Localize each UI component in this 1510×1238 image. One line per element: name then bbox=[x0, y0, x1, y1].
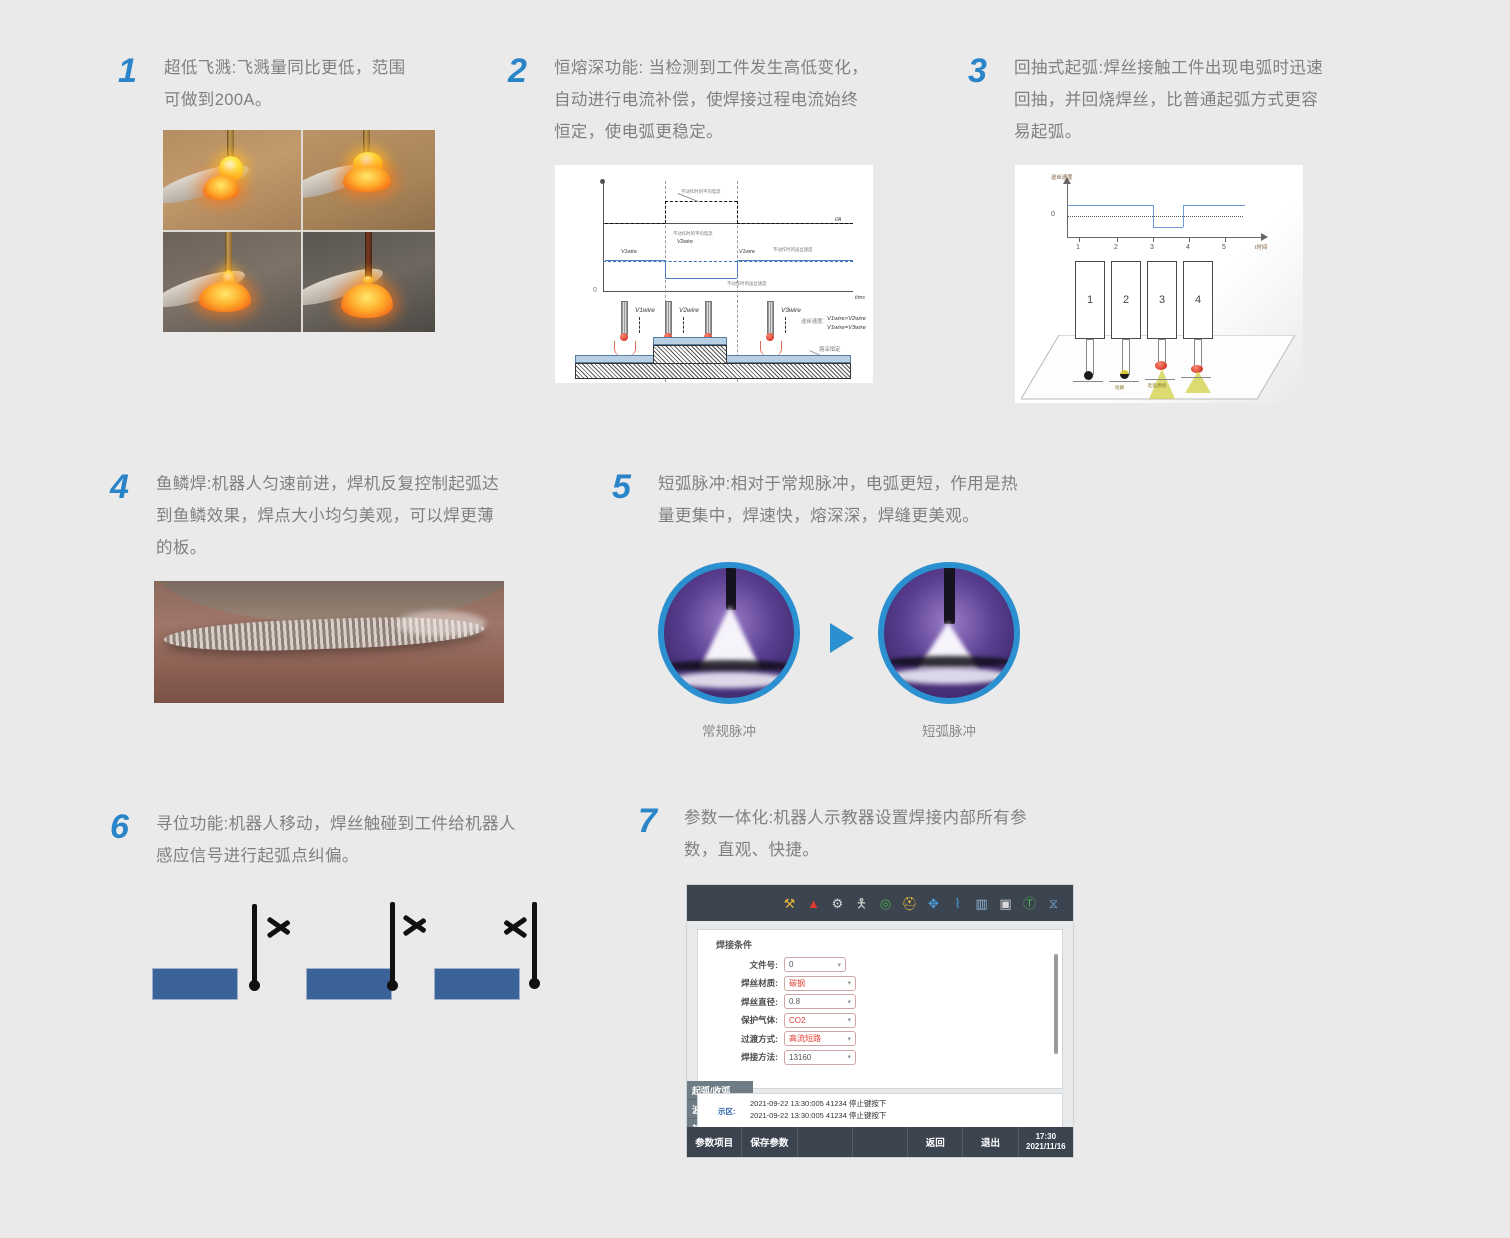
touch-wire-tip-3 bbox=[529, 978, 540, 989]
chevron-down-icon: ▾ bbox=[847, 998, 851, 1006]
button-parameter-items[interactable]: 参数项目 bbox=[687, 1127, 742, 1157]
chart3-tick-4: 4 bbox=[1186, 244, 1190, 251]
feature-2-line-3: 恒定，使电弧更稳定。 bbox=[554, 116, 868, 148]
feature-6: 6 寻位功能:机器人移动，焊丝触碰到工件给机器人 感应信号进行起弧点纠偏。 bbox=[110, 808, 580, 1024]
form-row-wire-diameter: 焊丝直径: 0.8 ▾ bbox=[698, 994, 1062, 1009]
select-wire-diameter[interactable]: 0.8 ▾ bbox=[784, 994, 856, 1009]
feature-3-line-3: 易起弧。 bbox=[1014, 116, 1323, 148]
chart2-series-label-2: V2wire bbox=[677, 239, 693, 245]
feature-2-line-1: 恒熔深功能: 当检测到工件发生高低变化， bbox=[554, 52, 868, 84]
chart3-tick-1: 1 bbox=[1076, 244, 1080, 251]
chart2-series-label-3: V1wire bbox=[739, 249, 755, 255]
chart3-tick-2: 2 bbox=[1114, 244, 1118, 251]
value-file-number: 0 bbox=[789, 960, 793, 969]
button-save-parameters[interactable]: 保存参数 bbox=[742, 1127, 797, 1157]
value-wire-diameter: 0.8 bbox=[789, 997, 800, 1006]
label-file-number: 文件号: bbox=[698, 959, 784, 971]
label-wire-material: 焊丝材质: bbox=[698, 977, 784, 989]
chevron-down-icon: ▾ bbox=[847, 1053, 851, 1061]
clock-date: 2021/11/16 bbox=[1026, 1142, 1066, 1153]
t-box-icon[interactable]: Ⓣ bbox=[1020, 894, 1039, 913]
feature-6-line-1: 寻位功能:机器人移动，焊丝触碰到工件给机器人 bbox=[156, 808, 516, 840]
touch-plate-3 bbox=[434, 968, 520, 1000]
robot-01-icon[interactable]: 🯅 bbox=[852, 894, 871, 913]
feature-3-line-2: 回抽，并回烧焊丝，比普通起弧方式更容 bbox=[1014, 84, 1323, 116]
feature-1-line-2: 可做到200A。 bbox=[164, 84, 406, 116]
feature-3-description: 回抽式起弧:焊丝接触工件出现电弧时迅速 回抽，并回烧焊丝，比普通起弧方式更容 易… bbox=[1014, 52, 1323, 149]
arc-circle-icon[interactable]: ◎ bbox=[876, 894, 895, 913]
chart2-annotation-1: 不动作时的平均电流 bbox=[681, 189, 721, 195]
form-row-shielding-gas: 保护气体: CO2 ▾ bbox=[698, 1013, 1062, 1028]
select-welding-method[interactable]: 13160 ▾ bbox=[784, 1050, 856, 1065]
chart2-note-line-1: V1wire>V2wire bbox=[827, 316, 866, 322]
chart3-zero-label: 0 bbox=[1051, 211, 1055, 218]
chart3-tick-3: 3 bbox=[1150, 244, 1154, 251]
feature-4-line-3: 的板。 bbox=[156, 532, 499, 564]
pendant-bottom-bar: 参数项目 保存参数 返回 退出 17:30 2021/11/16 bbox=[687, 1127, 1073, 1157]
stage-caption-3: 起弧燃烧 bbox=[1148, 383, 1166, 389]
feature-5-line-1: 短弧脉冲:相对于常规脉冲，电弧更短，作用是热 bbox=[658, 468, 1018, 500]
chart2-note-title: 送丝速度： bbox=[801, 317, 828, 325]
chart2-annotation-2: 不动作时的平均电流 bbox=[673, 231, 713, 237]
feature-1-number: 1 bbox=[118, 52, 148, 88]
label-wire-diameter: 焊丝直径: bbox=[698, 996, 784, 1008]
label-welding-method: 焊接方法: bbox=[698, 1051, 784, 1063]
log-row-1: 2021-09-22 13:30:005 41234 停止键按下 bbox=[750, 1098, 1062, 1110]
feature-3-number: 3 bbox=[968, 52, 998, 88]
feature-7-description: 参数一体化:机器人示教器设置焊接内部所有参 数，直观、快捷。 bbox=[684, 802, 1027, 866]
retract-arrow-icon bbox=[500, 912, 528, 940]
move-axes-icon[interactable]: ✥ bbox=[924, 894, 943, 913]
button-empty-2[interactable] bbox=[853, 1127, 908, 1157]
chevron-down-icon: ▾ bbox=[847, 1035, 851, 1043]
feature-4-line-2: 到鱼鳞效果，焊点大小均匀美观，可以焊更薄 bbox=[156, 500, 499, 532]
feature-2-line-2: 自动进行电流补偿，使焊接过程电流始终 bbox=[554, 84, 868, 116]
feature-6-number: 6 bbox=[110, 808, 140, 844]
clock-time: 17:30 bbox=[1026, 1132, 1066, 1143]
panel-title: 焊接条件 bbox=[698, 930, 1062, 951]
button-back[interactable]: 返回 bbox=[908, 1127, 963, 1157]
comparison-arrow-icon bbox=[830, 623, 854, 653]
chevron-down-icon: ▾ bbox=[837, 961, 841, 969]
chart2-torch-label-3: V3wire bbox=[781, 307, 801, 314]
form-row-wire-material: 焊丝材质: 碳钢 ▾ bbox=[698, 976, 1062, 991]
step-box-1: 1 bbox=[1075, 261, 1105, 339]
gear-01-icon[interactable]: ⚙ bbox=[828, 894, 847, 913]
feature-1-line-1: 超低飞溅:飞溅量同比更低，范围 bbox=[164, 52, 406, 84]
approach-arrow-2-icon bbox=[404, 910, 432, 938]
touch-wire-3 bbox=[532, 902, 537, 984]
label-shielding-gas: 保护气体: bbox=[698, 1014, 784, 1026]
wrench-tools-icon[interactable]: ⚒ bbox=[780, 894, 799, 913]
robot-arm-icon[interactable]: ⌇ bbox=[948, 894, 967, 913]
chart3-y-axis-label: 送丝速度 bbox=[1051, 173, 1073, 181]
feature-3-line-1: 回抽式起弧:焊丝接触工件出现电弧时迅速 bbox=[1014, 52, 1323, 84]
feature-1-description: 超低飞溅:飞溅量同比更低，范围 可做到200A。 bbox=[164, 52, 406, 116]
label-transfer-mode: 过渡方式: bbox=[698, 1033, 784, 1045]
fish-scale-weld-photo bbox=[154, 581, 504, 703]
step-box-2: 2 bbox=[1111, 261, 1141, 339]
feature-5-number: 5 bbox=[612, 468, 642, 504]
feature-4-line-1: 鱼鳞焊:机器人匀速前进，焊机反复控制起弧达 bbox=[156, 468, 499, 500]
pendant-toolbar: ⚒ ▲ ⚙ 🯅 ◎ ⛑ ✥ ⌇ ▥ ▣ Ⓣ ⧖ bbox=[687, 885, 1073, 921]
feature-5-description: 短弧脉冲:相对于常规脉冲，电弧更短，作用是热 量更集中，焊速快，熔深深，焊缝更美… bbox=[658, 468, 1018, 532]
chart2-torch-label-1: V1wire bbox=[635, 307, 655, 314]
chevron-down-icon: ▾ bbox=[847, 979, 851, 987]
select-shielding-gas[interactable]: CO2 ▾ bbox=[784, 1013, 856, 1028]
chart3-tick-5: 5 bbox=[1222, 244, 1226, 251]
feature-7: 7 参数一体化:机器人示教器设置焊接内部所有参 数，直观、快捷。 ⚒ ▲ ⚙ 🯅… bbox=[638, 802, 1098, 1158]
form-row-transfer-mode: 过渡方式: 高流短路 ▾ bbox=[698, 1031, 1062, 1046]
teach-icon[interactable]: ▥ bbox=[972, 894, 991, 913]
pulse-circle-short-arc bbox=[878, 562, 1020, 704]
approach-arrow-1-icon bbox=[268, 912, 296, 940]
log-label: 示区: bbox=[718, 1106, 736, 1118]
feature-7-line-1: 参数一体化:机器人示教器设置焊接内部所有参 bbox=[684, 802, 1027, 834]
feature-2-description: 恒熔深功能: 当检测到工件发生高低变化， 自动进行电流补偿，使焊接过程电流始终 … bbox=[554, 52, 868, 149]
feature-1-header: 1 超低飞溅:飞溅量同比更低，范围 可做到200A。 bbox=[118, 52, 538, 116]
welding-condition-form: 文件号: 0 ▾ 焊丝材质: 碳钢 ▾ 焊丝直径: 0.8 bbox=[698, 951, 1062, 1065]
chart2-series-label-1: V1wire bbox=[621, 249, 637, 255]
weld-photo-4 bbox=[303, 232, 435, 332]
pendant-panel: 焊接条件 文件号: 0 ▾ 焊丝材质: 碳钢 ▾ 焊 bbox=[697, 929, 1063, 1089]
log-row-2: 2021-09-22 13:30:005 41234 停止键按下 bbox=[750, 1110, 1062, 1122]
teach-pendant-ui[interactable]: ⚒ ▲ ⚙ 🯅 ◎ ⛑ ✥ ⌇ ▥ ▣ Ⓣ ⧖ 焊接条件 文件号: 0 ▾ bbox=[686, 884, 1074, 1158]
chart2-depth-note: 熔深恒定 bbox=[819, 345, 841, 353]
person-icon[interactable]: ⧖ bbox=[1044, 894, 1063, 913]
weld-photo-1 bbox=[163, 130, 301, 230]
feature-3: 3 回抽式起弧:焊丝接触工件出现电弧时迅速 回抽，并回烧焊丝，比普通起弧方式更容… bbox=[968, 52, 1368, 403]
pulse-caption-left: 常规脉冲 bbox=[658, 720, 800, 740]
select-file-number[interactable]: 0 ▾ bbox=[784, 957, 846, 972]
feature-4: 4 鱼鳞焊:机器人匀速前进，焊机反复控制起弧达 到鱼鳞效果，焊点大小均匀美观，可… bbox=[110, 468, 530, 703]
warning-icon[interactable]: ▲ bbox=[804, 894, 823, 913]
touch-plate-1 bbox=[152, 968, 238, 1000]
feature-6-header: 6 寻位功能:机器人移动，焊丝触碰到工件给机器人 感应信号进行起弧点纠偏。 bbox=[110, 808, 580, 872]
feature-6-description: 寻位功能:机器人移动，焊丝触碰到工件给机器人 感应信号进行起弧点纠偏。 bbox=[156, 808, 516, 872]
value-wire-material: 碳钢 bbox=[789, 978, 805, 989]
helmet-icon[interactable]: ⛑ bbox=[900, 894, 919, 913]
form-row-welding-method: 焊接方法: 13160 ▾ bbox=[698, 1050, 1062, 1065]
form-row-file-number: 文件号: 0 ▾ bbox=[698, 957, 1062, 972]
chart2-zero-label: 0 bbox=[593, 287, 597, 294]
chart2-annotation-3: 不动作时的送丝速度 bbox=[773, 247, 813, 253]
feature-7-line-2: 数，直观、快捷。 bbox=[684, 834, 1027, 866]
select-transfer-mode[interactable]: 高流短路 ▾ bbox=[784, 1031, 856, 1046]
panel-scrollbar[interactable] bbox=[1054, 954, 1058, 1054]
button-exit[interactable]: 退出 bbox=[963, 1127, 1018, 1157]
feature-5-line-2: 量更集中，焊速快，熔深深，焊缝更美观。 bbox=[658, 500, 1018, 532]
retract-arc-diagram: 0 送丝速度 t时间 1 2 3 4 5 bbox=[1015, 165, 1303, 403]
feature-2: 2 恒熔深功能: 当检测到工件发生高低变化， 自动进行电流补偿，使焊接过程电流始… bbox=[508, 52, 928, 383]
pendant-log: 示区: 2021-09-22 13:30:005 41234 停止键按下 202… bbox=[697, 1093, 1063, 1129]
touch-wire-1 bbox=[252, 904, 257, 986]
feature-7-header: 7 参数一体化:机器人示教器设置焊接内部所有参 数，直观、快捷。 bbox=[638, 802, 1098, 866]
stage-caption-2: 短路 bbox=[1115, 385, 1124, 391]
value-transfer-mode: 高流短路 bbox=[789, 1033, 821, 1044]
touch-sensing-diagram bbox=[128, 914, 568, 1024]
touch-wire-tip-2 bbox=[387, 980, 398, 991]
chart2-torch-label-2: V2wire bbox=[679, 307, 699, 314]
button-empty-1[interactable] bbox=[798, 1127, 853, 1157]
feature-4-description: 鱼鳞焊:机器人匀速前进，焊机反复控制起弧达 到鱼鳞效果，焊点大小均匀美观，可以焊… bbox=[156, 468, 499, 565]
step-box-3: 3 bbox=[1147, 261, 1177, 339]
step-box-4: 4 bbox=[1183, 261, 1213, 339]
feature-5: 5 短弧脉冲:相对于常规脉冲，电弧更短，作用是热 量更集中，焊速快，熔深深，焊缝… bbox=[612, 468, 1062, 552]
chart2-annotation-4: 不动作时的送丝速度 bbox=[727, 281, 767, 287]
feature-5-header: 5 短弧脉冲:相对于常规脉冲，电弧更短，作用是热 量更集中，焊速快，熔深深，焊缝… bbox=[612, 468, 1062, 532]
pulse-circle-conventional bbox=[658, 562, 800, 704]
feature-4-number: 4 bbox=[110, 468, 140, 504]
touch-plate-2 bbox=[306, 968, 392, 1000]
weld-photo-2 bbox=[303, 130, 435, 230]
feature-2-header: 2 恒熔深功能: 当检测到工件发生高低变化， 自动进行电流补偿，使焊接过程电流始… bbox=[508, 52, 928, 149]
chart2-note-line-2: V1wire=V3wire bbox=[827, 325, 866, 331]
square-stop-icon[interactable]: ▣ bbox=[996, 894, 1015, 913]
value-shielding-gas: CO2 bbox=[789, 1016, 805, 1025]
touch-wire-tip-1 bbox=[249, 980, 260, 991]
value-welding-method: 13160 bbox=[789, 1053, 811, 1062]
weld-photo-3 bbox=[163, 232, 301, 332]
chart2-time-axis-label: t/ms bbox=[855, 295, 865, 301]
touch-wire-2 bbox=[390, 902, 395, 988]
feature-2-number: 2 bbox=[508, 52, 538, 88]
feature-4-header: 4 鱼鳞焊:机器人匀速前进，焊机反复控制起弧达 到鱼鳞效果，焊点大小均匀美观，可… bbox=[110, 468, 530, 565]
feature-1: 1 超低飞溅:飞溅量同比更低，范围 可做到200A。 bbox=[118, 52, 538, 332]
feature-7-number: 7 bbox=[638, 802, 668, 838]
pendant-clock: 17:30 2021/11/16 bbox=[1019, 1127, 1073, 1157]
chart3-x-axis-label: t时间 bbox=[1255, 243, 1267, 251]
constant-penetration-chart: t/ms I/A 0 不动作时的平均电流 不动作时的平均电流 bbox=[555, 165, 873, 383]
chevron-down-icon: ▾ bbox=[847, 1016, 851, 1024]
pulse-caption-right: 短弧脉冲 bbox=[878, 720, 1020, 740]
feature-3-header: 3 回抽式起弧:焊丝接触工件出现电弧时迅速 回抽，并回烧焊丝，比普通起弧方式更容… bbox=[968, 52, 1368, 149]
select-wire-material[interactable]: 碳钢 ▾ bbox=[784, 976, 856, 991]
feature-6-line-2: 感应信号进行起弧点纠偏。 bbox=[156, 840, 516, 872]
welding-photo-grid bbox=[163, 130, 435, 332]
